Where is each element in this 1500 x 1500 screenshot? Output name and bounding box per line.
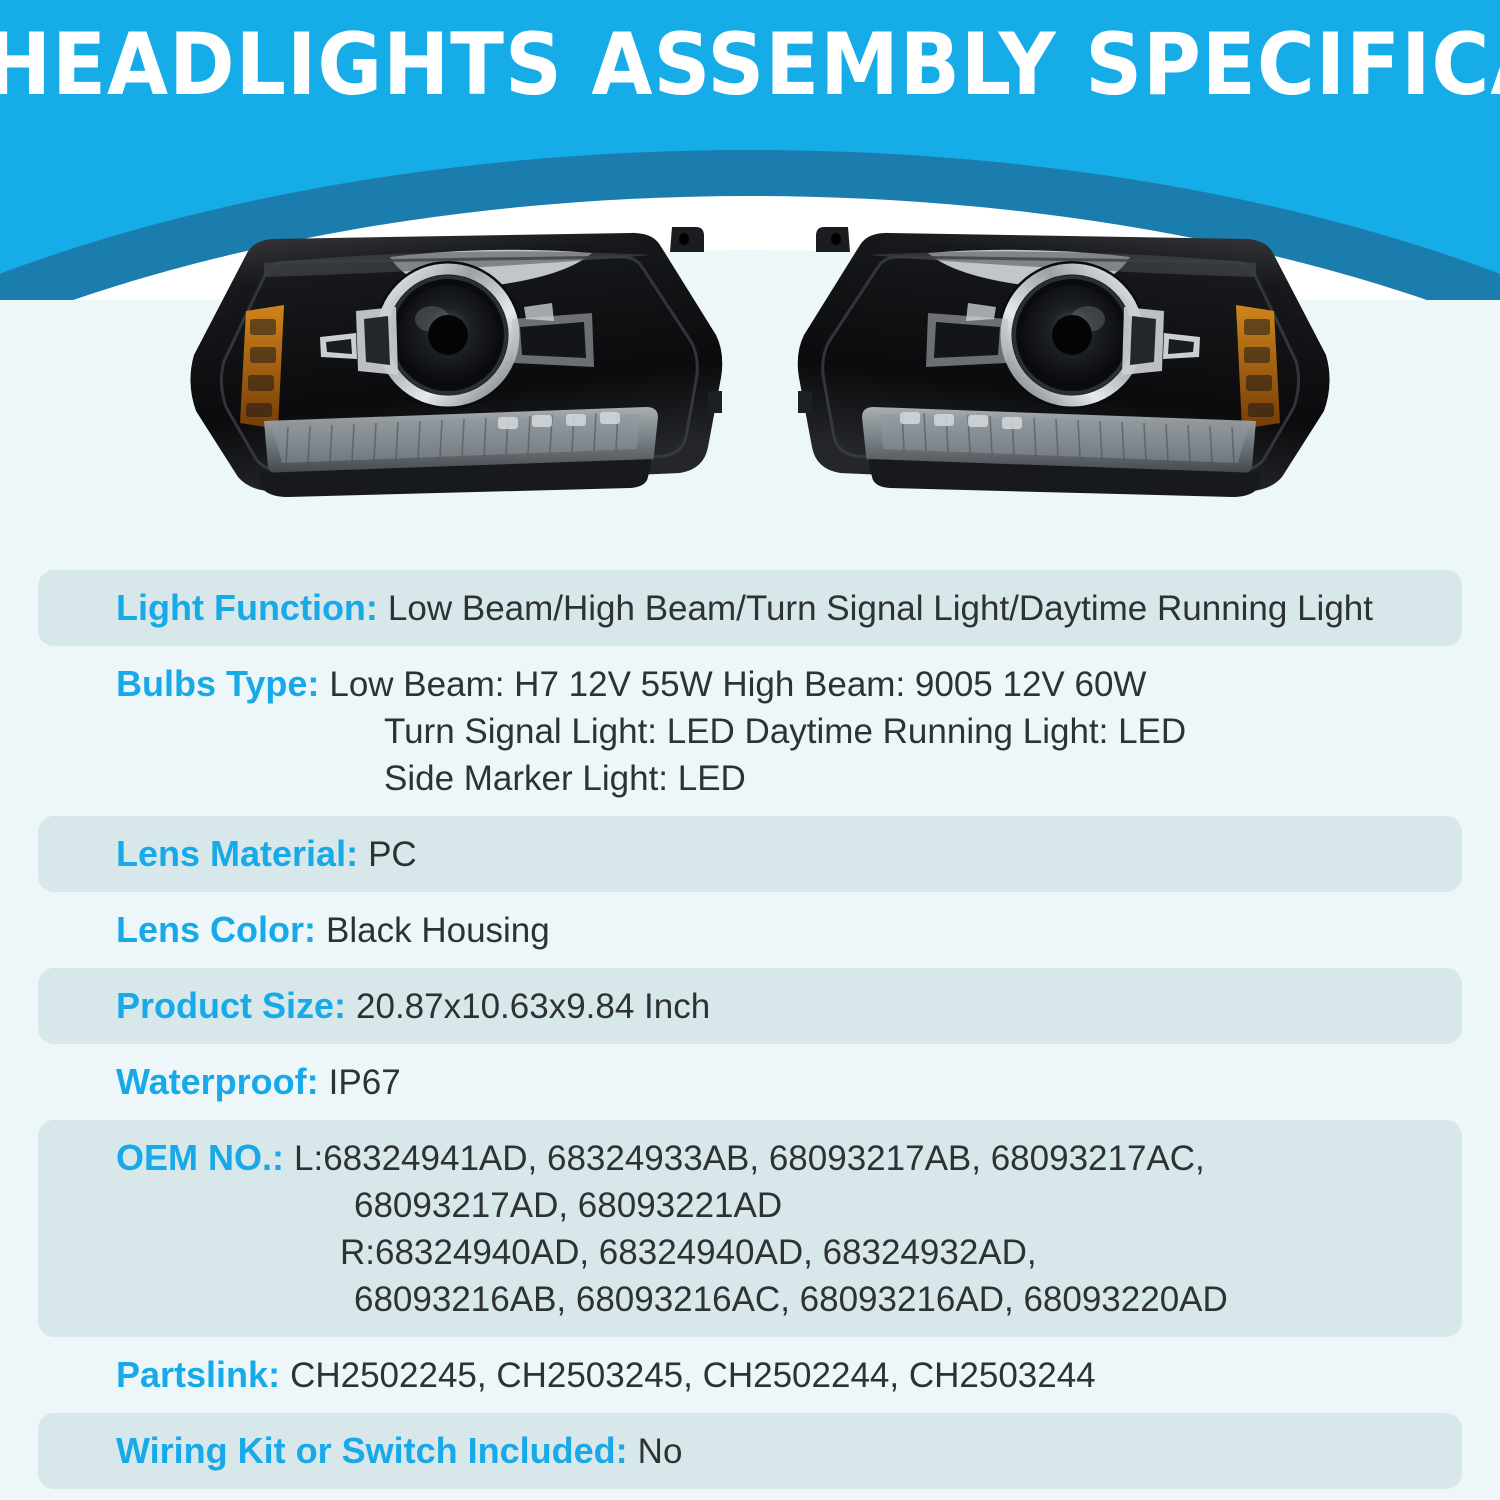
spec-value: L:68324941AD, 68324933AB, 68093217AB, 68… <box>294 1139 1205 1178</box>
spec-label: Partslink: <box>116 1354 290 1395</box>
spec-line: Lens Color: Black Housing <box>116 906 1442 954</box>
page-title: HEADLIGHTS ASSEMBLY SPECIFICATIONS <box>0 22 1500 108</box>
spec-label: Light Function: <box>116 587 388 628</box>
spec-line: Bulbs Type: Low Beam: H7 12V 55W High Be… <box>116 660 1442 708</box>
spec-label: Bulbs Type: <box>116 663 329 704</box>
spec-value: 20.87x10.63x9.84 Inch <box>356 987 710 1026</box>
spec-row-light-function: Light Function: Low Beam/High Beam/Turn … <box>38 570 1462 646</box>
spec-line: Lens Material: PC <box>116 830 1442 878</box>
spec-line: Partslink: CH2502245, CH2503245, CH25022… <box>116 1351 1442 1399</box>
spec-value-continued: Turn Signal Light: LED Daytime Running L… <box>116 708 1442 755</box>
spec-line: Light Function: Low Beam/High Beam/Turn … <box>116 584 1442 632</box>
spec-value: CH2502245, CH2503245, CH2502244, CH25032… <box>290 1356 1096 1395</box>
spec-value: IP67 <box>329 1063 401 1102</box>
spec-value: Low Beam: H7 12V 55W High Beam: 9005 12V… <box>329 665 1146 704</box>
spec-line: OEM NO.: L:68324941AD, 68324933AB, 68093… <box>116 1134 1442 1182</box>
spec-label: Lens Material: <box>116 833 368 874</box>
passenger-side-headlight-image <box>760 215 1360 515</box>
spec-value: PC <box>368 835 417 874</box>
spec-label: Product Size: <box>116 985 356 1026</box>
spec-value-continued: Side Marker Light: LED <box>116 755 1442 802</box>
product-image-area <box>0 215 1500 545</box>
spec-row-product-size: Product Size: 20.87x10.63x9.84 Inch <box>38 968 1462 1044</box>
spec-row-wiring-kit: Wiring Kit or Switch Included: No <box>38 1413 1462 1489</box>
spec-row-partslink: Partslink: CH2502245, CH2503245, CH25022… <box>38 1337 1462 1413</box>
driver-side-headlight-image <box>160 215 760 515</box>
spec-label: Wiring Kit or Switch Included: <box>116 1430 638 1471</box>
spec-row-oem-no: OEM NO.: L:68324941AD, 68324933AB, 68093… <box>38 1120 1462 1337</box>
spec-sheet-page: HEADLIGHTS ASSEMBLY SPECIFICATIONS <box>0 0 1500 1500</box>
spec-label: Lens Color: <box>116 909 326 950</box>
spec-value-continued: 68093216AB, 68093216AC, 68093216AD, 6809… <box>116 1276 1442 1323</box>
spec-row-lens-color: Lens Color: Black Housing <box>38 892 1462 968</box>
spec-label: OEM NO.: <box>116 1137 294 1178</box>
specifications-list: Light Function: Low Beam/High Beam/Turn … <box>38 570 1462 1489</box>
spec-line: Wiring Kit or Switch Included: No <box>116 1427 1442 1475</box>
spec-row-waterproof: Waterproof: IP67 <box>38 1044 1462 1120</box>
spec-value: Low Beam/High Beam/Turn Signal Light/Day… <box>388 589 1373 628</box>
spec-line: Waterproof: IP67 <box>116 1058 1442 1106</box>
spec-value: No <box>638 1432 683 1471</box>
spec-value: Black Housing <box>326 911 550 950</box>
spec-row-bulbs-type: Bulbs Type: Low Beam: H7 12V 55W High Be… <box>38 646 1462 816</box>
spec-value-continued: 68093217AD, 68093221AD <box>116 1182 1442 1229</box>
spec-row-lens-material: Lens Material: PC <box>38 816 1462 892</box>
spec-value-continued: R:68324940AD, 68324940AD, 68324932AD, <box>116 1229 1442 1276</box>
spec-line: Product Size: 20.87x10.63x9.84 Inch <box>116 982 1442 1030</box>
spec-label: Waterproof: <box>116 1061 329 1102</box>
